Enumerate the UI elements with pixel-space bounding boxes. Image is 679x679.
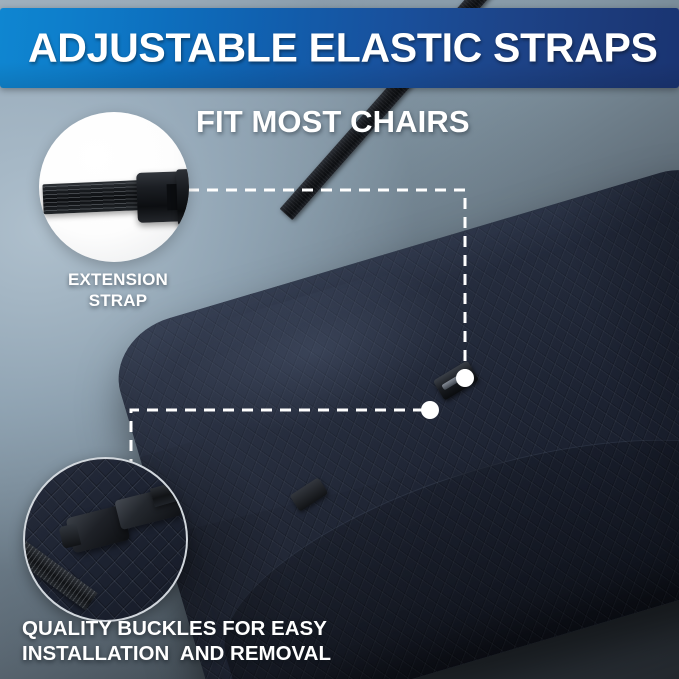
webbing-strap bbox=[42, 180, 151, 215]
seat-cushion bbox=[104, 156, 679, 679]
subtitle-fit-most-chairs: FIT MOST CHAIRS bbox=[196, 104, 470, 140]
promo-image-canvas: EXTENSION STRAP QUALITY BUCKLES FOR EASY… bbox=[0, 0, 679, 679]
buckle-tip bbox=[176, 169, 189, 226]
extension-caption-line-2: STRAP bbox=[89, 291, 148, 310]
quality-buckles-caption: QUALITY BUCKLES FOR EASY INSTALLATION AN… bbox=[22, 616, 331, 667]
extension-strap-caption: EXTENSION STRAP bbox=[33, 270, 203, 311]
page-title: ADJUSTABLE ELASTIC STRAPS bbox=[28, 28, 658, 69]
buckle-closeup-inset bbox=[23, 457, 188, 622]
header-banner: ADJUSTABLE ELASTIC STRAPS bbox=[0, 8, 679, 88]
extension-strap-inset bbox=[39, 112, 189, 262]
extension-caption-line-1: EXTENSION bbox=[68, 270, 168, 289]
